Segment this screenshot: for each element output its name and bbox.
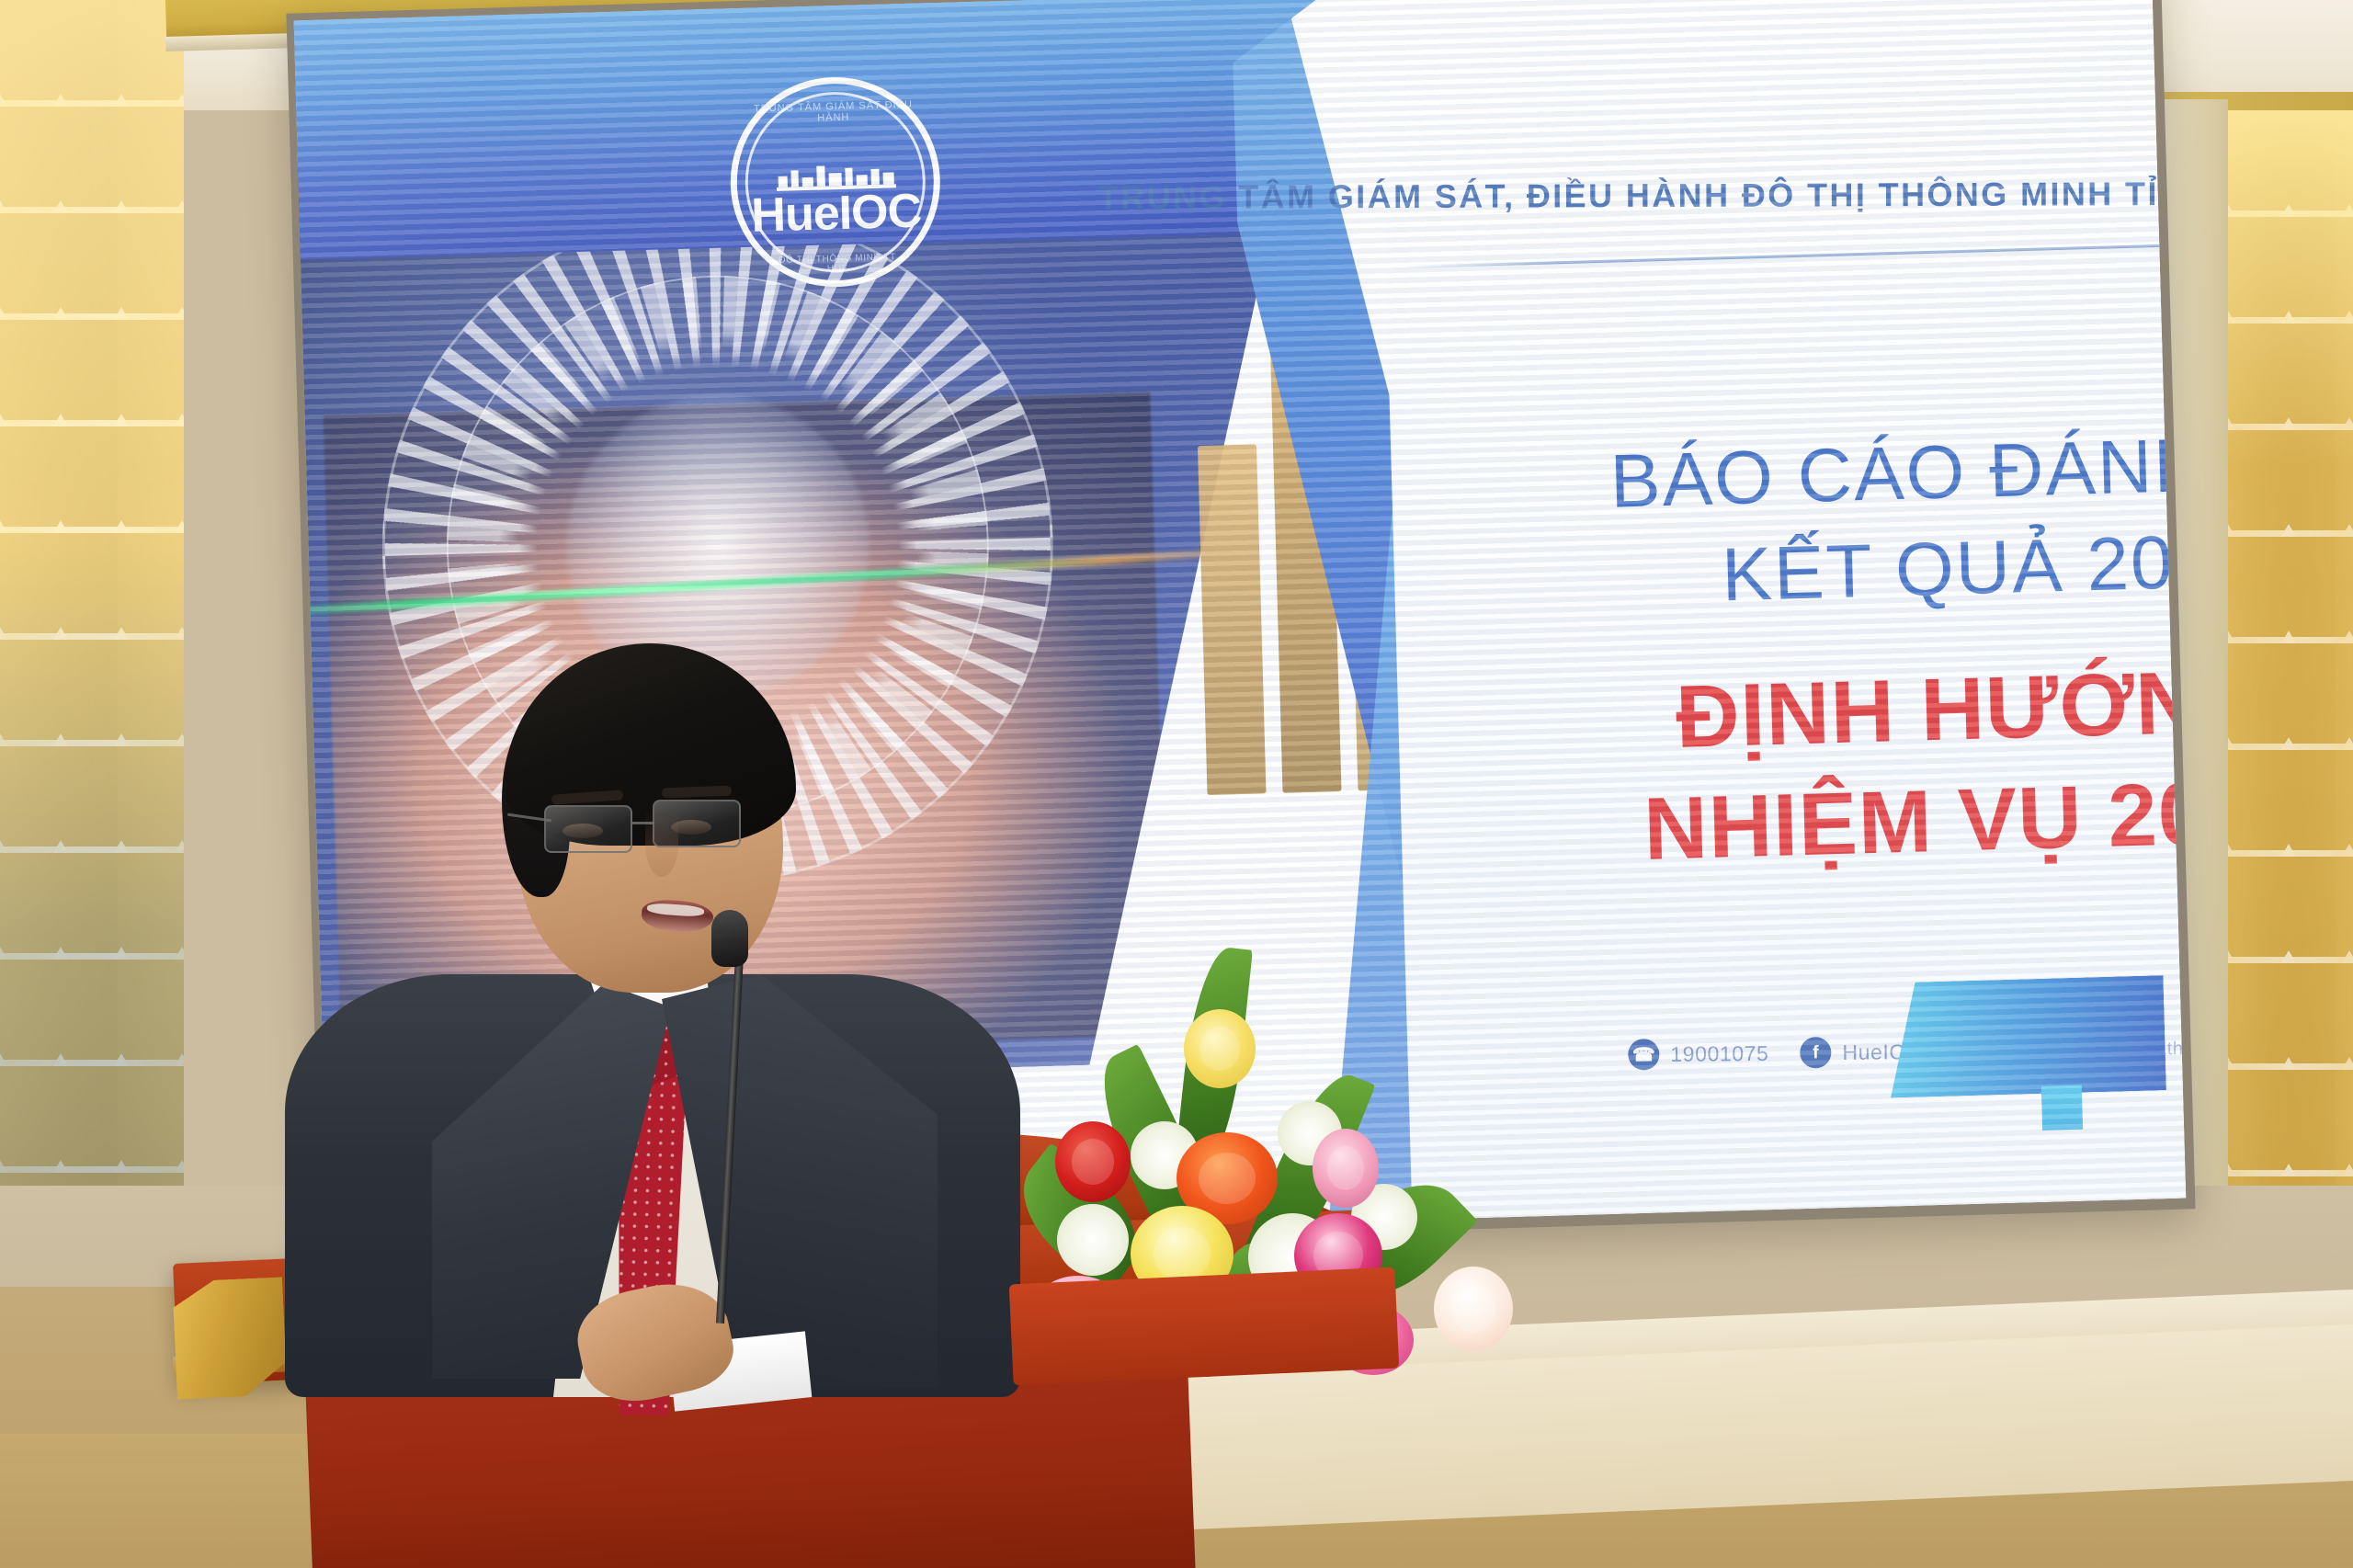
flower-vase: [1009, 1267, 1400, 1386]
rose-red-left: [1055, 1121, 1131, 1202]
lattice-screen-right: [2228, 110, 2353, 1305]
phone-icon: ☎: [1628, 1039, 1659, 1070]
logo-arc-top-text: TRUNG TÂM GIÁM SÁT ĐIỀU HÀNH: [752, 99, 915, 159]
slide-title-blue: BÁO CÁO ĐÁNH GIÁ KẾT QUẢ 2023: [1538, 412, 2186, 630]
lattice-screen-left: [0, 0, 184, 1305]
logo-arc-bottom-text: ĐÔ THỊ THÔNG MINH TT HUẾ: [769, 252, 906, 276]
rose-yellow-top: [1184, 1009, 1256, 1088]
slide-title-red: ĐỊNH HƯỚNG NHIỆM VỤ 2024: [1498, 641, 2186, 890]
slide-corner-accent-tab: [2041, 1085, 2083, 1131]
hueioc-logo: TRUNG TÂM GIÁM SÁT ĐIỀU HÀNH HueIOC ĐÔ T…: [728, 74, 943, 290]
rose-white-right: [1434, 1267, 1513, 1351]
filler-flower-3: [1057, 1204, 1129, 1276]
rose-pink-lightright: [1313, 1129, 1379, 1208]
microphone-head-icon: [711, 910, 748, 967]
slide-header-text: TRUNG TÂM GIÁM SÁT, ĐIỀU HÀNH ĐÔ THỊ THÔ…: [1098, 174, 2186, 217]
slide-title-blue-line1: BÁO CÁO ĐÁNH GIÁ: [1609, 419, 2187, 524]
slide-title-blue-line2: KẾT QUẢ 2023: [1540, 507, 2186, 629]
contact-phone: ☎ 19001075: [1628, 1038, 1768, 1071]
contact-phone-label: 19001075: [1670, 1040, 1768, 1066]
speaker: [276, 643, 1048, 1379]
slide-title-red-line2: NHIỆM VỤ 2024: [1643, 762, 2186, 879]
scene-root: TRUNG TÂM GIÁM SÁT ĐIỀU HÀNH HueIOC ĐÔ T…: [0, 0, 2353, 1568]
slide-corner-accent: [1888, 975, 2166, 1097]
skyline-icon: [776, 160, 896, 187]
slide-title-red-line1: ĐỊNH HƯỚNG: [1675, 652, 2186, 767]
logo-wordmark: HueIOC: [731, 183, 942, 244]
speaker-nose: [645, 811, 678, 877]
facebook-icon: f: [1800, 1037, 1831, 1068]
bar-1: [1198, 444, 1267, 795]
glasses-lens-left: [544, 805, 632, 853]
